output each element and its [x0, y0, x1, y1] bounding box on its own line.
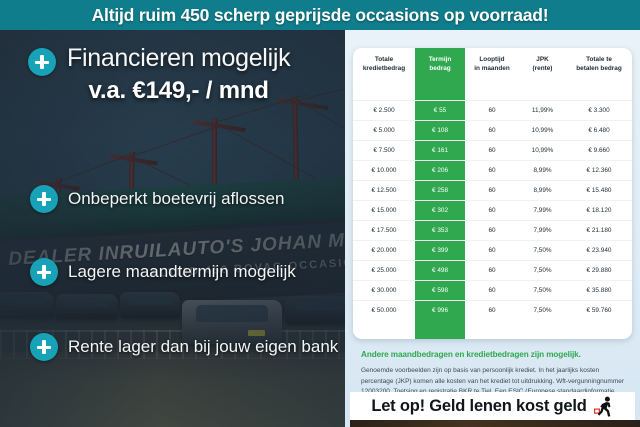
feature-item: Lagere maandtermijn mogelijk: [30, 258, 296, 286]
cell-termijn: € 161: [415, 141, 465, 161]
plus-circle-icon: [30, 185, 58, 213]
cell-totaal: € 3.300: [566, 101, 632, 121]
spacer-cell: [566, 81, 632, 101]
cell-looptijd: 60: [465, 301, 519, 321]
cell-jpk: 7,50%: [519, 301, 566, 321]
cell-jpk: 7,99%: [519, 201, 566, 221]
cell-termijn: € 353: [415, 221, 465, 241]
cell-jpk: 7,50%: [519, 261, 566, 281]
table-header-row: Totale kredietbedrag Termijn bedrag Loop…: [353, 48, 632, 81]
cell-krediet: € 7.500: [353, 141, 415, 161]
cell-totaal: € 21.180: [566, 221, 632, 241]
header-line-1: Totale: [375, 56, 393, 63]
cell-jpk: 7,99%: [519, 221, 566, 241]
financing-rates-table: Totale kredietbedrag Termijn bedrag Loop…: [353, 48, 632, 339]
cell-totaal: € 6.480: [566, 121, 632, 141]
cell-looptijd: 60: [465, 161, 519, 181]
credit-warning-bar: Let op! Geld lenen kost geld: [350, 392, 635, 420]
cell-looptijd: 60: [465, 281, 519, 301]
cell-krediet: € 25.000: [353, 261, 415, 281]
cell-jpk: 8,99%: [519, 161, 566, 181]
cell-jpk: 7,50%: [519, 281, 566, 301]
headline-primary: Financieren mogelijk: [67, 44, 290, 73]
left-content: Financieren mogelijk v.a. €149,- / mnd O…: [0, 30, 350, 427]
plus-circle-icon: [28, 48, 56, 76]
header-title: Altijd ruim 450 scherp geprijsde occasio…: [92, 5, 549, 26]
cell-totaal: € 12.360: [566, 161, 632, 181]
cell-krediet: € 2.500: [353, 101, 415, 121]
cell-totaal: € 15.480: [566, 181, 632, 201]
spacer-cell: [465, 320, 519, 339]
cell-looptijd: 60: [465, 101, 519, 121]
cell-totaal: € 9.660: [566, 141, 632, 161]
table-row: € 2.500 € 55 60 11,99% € 3.300: [353, 101, 632, 121]
table-row: € 20.000 € 399 60 7,50% € 23.940: [353, 241, 632, 261]
headline-lines: Financieren mogelijk v.a. €149,- / mnd: [67, 44, 290, 105]
table-row: € 50.000 € 996 60 7,50% € 59.760: [353, 301, 632, 321]
column-header-jpk: JPK (rente): [519, 48, 566, 81]
feature-label: Lagere maandtermijn mogelijk: [68, 262, 296, 282]
table-row: € 25.000 € 498 60 7,50% € 29.880: [353, 261, 632, 281]
table-row: € 15.000 € 302 60 7,99% € 18.120: [353, 201, 632, 221]
spacer-cell: [353, 81, 415, 101]
cell-looptijd: 60: [465, 141, 519, 161]
cell-termijn: € 996: [415, 301, 465, 321]
cell-krediet: € 5.000: [353, 121, 415, 141]
cell-jpk: 10,99%: [519, 141, 566, 161]
cell-looptijd: 60: [465, 201, 519, 221]
cell-termijn: € 399: [415, 241, 465, 261]
header-line-2: bedrag: [429, 65, 450, 72]
advertisement-banner: DEALER INRUILAUTO'S JOHAN MEURE ALTIJD 4…: [0, 0, 640, 427]
table-body: € 2.500 € 55 60 11,99% € 3.300 € 5.000 €…: [353, 81, 632, 339]
cell-looptijd: 60: [465, 241, 519, 261]
header-line-1: JPK: [536, 56, 548, 63]
table-row: € 30.000 € 598 60 7,50% € 35.880: [353, 281, 632, 301]
header-line-1: Termijn: [429, 56, 452, 63]
cell-totaal: € 29.880: [566, 261, 632, 281]
cell-termijn: € 55: [415, 101, 465, 121]
feature-item: Onbeperkt boetevrij aflossen: [30, 185, 284, 213]
table-row: € 10.000 € 206 60 8,99% € 12.360: [353, 161, 632, 181]
column-header-totaal: Totale te betalen bedrag: [566, 48, 632, 81]
spacer-cell: [519, 81, 566, 101]
cell-totaal: € 18.120: [566, 201, 632, 221]
table-spacer-row: [353, 81, 632, 101]
column-header-looptijd: Looptijd in maanden: [465, 48, 519, 81]
cell-termijn: € 302: [415, 201, 465, 221]
cell-looptijd: 60: [465, 121, 519, 141]
cell-termijn: € 258: [415, 181, 465, 201]
header-line-2: (rente): [533, 65, 553, 72]
cell-looptijd: 60: [465, 181, 519, 201]
cell-krediet: € 17.500: [353, 221, 415, 241]
plus-circle-icon: [30, 258, 58, 286]
header-line-2: betalen bedrag: [576, 65, 621, 72]
cell-termijn: € 206: [415, 161, 465, 181]
header-line-1: Totale te: [586, 56, 612, 63]
cell-totaal: € 23.940: [566, 241, 632, 261]
headline-block: Financieren mogelijk v.a. €149,- / mnd: [28, 48, 290, 105]
cell-krediet: € 50.000: [353, 301, 415, 321]
header-line-1: Looptijd: [479, 56, 504, 63]
cell-jpk: 11,99%: [519, 101, 566, 121]
feature-item: Rente lager dan bij jouw eigen bank: [30, 333, 338, 361]
table-row: € 17.500 € 353 60 7,99% € 21.180: [353, 221, 632, 241]
banner-header: Altijd ruim 450 scherp geprijsde occasio…: [0, 0, 640, 30]
cell-totaal: € 59.760: [566, 301, 632, 321]
cell-totaal: € 35.880: [566, 281, 632, 301]
table-row: € 7.500 € 161 60 10,99% € 9.660: [353, 141, 632, 161]
cell-krediet: € 30.000: [353, 281, 415, 301]
cell-termijn: € 108: [415, 121, 465, 141]
rates-table-card: Totale kredietbedrag Termijn bedrag Loop…: [353, 48, 632, 339]
cell-jpk: 10,99%: [519, 121, 566, 141]
table-row: € 5.000 € 108 60 10,99% € 6.480: [353, 121, 632, 141]
bottom-photo-strip: [350, 420, 640, 427]
spacer-cell: [353, 320, 415, 339]
plus-circle-icon: [30, 333, 58, 361]
cell-krediet: € 10.000: [353, 161, 415, 181]
cell-looptijd: 60: [465, 261, 519, 281]
warning-text: Let op! Geld lenen kost geld: [371, 397, 586, 416]
cell-krediet: € 20.000: [353, 241, 415, 261]
right-panel: Totale kredietbedrag Termijn bedrag Loop…: [345, 30, 640, 427]
spacer-cell-highlight: [415, 81, 465, 101]
table-head: Totale kredietbedrag Termijn bedrag Loop…: [353, 48, 632, 81]
cell-termijn: € 498: [415, 261, 465, 281]
cell-krediet: € 15.000: [353, 201, 415, 221]
cell-termijn: € 598: [415, 281, 465, 301]
cell-looptijd: 60: [465, 221, 519, 241]
cell-jpk: 7,50%: [519, 241, 566, 261]
feature-label: Rente lager dan bij jouw eigen bank: [68, 337, 338, 357]
column-header-krediet: Totale kredietbedrag: [353, 48, 415, 81]
table-row: € 12.500 € 258 60 8,99% € 15.480: [353, 181, 632, 201]
spacer-cell: [566, 320, 632, 339]
header-line-2: kredietbedrag: [363, 65, 405, 72]
headline-secondary: v.a. €149,- / mnd: [67, 77, 290, 105]
column-header-termijn: Termijn bedrag: [415, 48, 465, 81]
cell-jpk: 8,99%: [519, 181, 566, 201]
spacer-cell: [519, 320, 566, 339]
spacer-cell-highlight: [415, 320, 465, 339]
feature-label: Onbeperkt boetevrij aflossen: [68, 189, 284, 209]
note-title: Andere maandbedragen en kredietbedragen …: [361, 350, 629, 359]
spacer-cell: [465, 81, 519, 101]
cell-krediet: € 12.500: [353, 181, 415, 201]
running-man-icon: [594, 396, 614, 417]
table-spacer-row: [353, 320, 632, 339]
header-line-2: in maanden: [474, 65, 510, 72]
